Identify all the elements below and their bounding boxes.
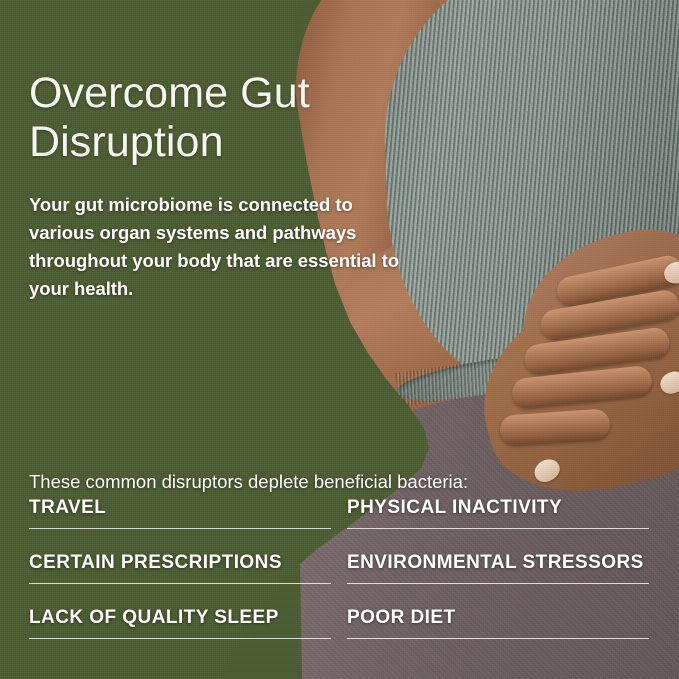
disruptors-right-column: PHYSICAL INACTIVITY ENVIRONMENTAL STRESS… (347, 497, 649, 639)
disruptor-label: CERTAIN PRESCRIPTIONS (29, 552, 331, 574)
poster-content: Overcome GutDisruption Your gut microbio… (0, 0, 679, 679)
disruptor-item-lack-of-quality-sleep: LACK OF QUALITY SLEEP (29, 607, 331, 639)
disruptors-left-column: TRAVEL CERTAIN PRESCRIPTIONS LACK OF QUA… (29, 497, 331, 639)
disruptor-label: PHYSICAL INACTIVITY (347, 497, 649, 519)
headline-line-2: Disruption (29, 118, 224, 166)
disruptor-label: ENVIRONMENTAL STRESSORS (347, 552, 649, 574)
disruptor-item-environmental-stressors: ENVIRONMENTAL STRESSORS (347, 552, 649, 584)
disruptor-item-certain-prescriptions: CERTAIN PRESCRIPTIONS (29, 552, 331, 584)
headline-line-1: Overcome Gut (29, 69, 310, 117)
disruptors-columns: TRAVEL CERTAIN PRESCRIPTIONS LACK OF QUA… (0, 497, 679, 639)
disruptor-item-poor-diet: POOR DIET (347, 607, 649, 639)
disruptor-item-travel: TRAVEL (29, 497, 331, 529)
disruptor-label: TRAVEL (29, 497, 331, 519)
disruptor-item-physical-inactivity: PHYSICAL INACTIVITY (347, 497, 649, 529)
subheadline-text: Your gut microbiome is connected to vari… (29, 191, 421, 303)
gut-health-promo-poster: Overcome GutDisruption Your gut microbio… (0, 0, 679, 679)
disruptors-intro-text: These common disruptors deplete benefici… (29, 471, 468, 493)
page-title: Overcome GutDisruption (29, 69, 359, 167)
disruptor-label: POOR DIET (347, 607, 649, 629)
disruptor-label: LACK OF QUALITY SLEEP (29, 607, 331, 629)
